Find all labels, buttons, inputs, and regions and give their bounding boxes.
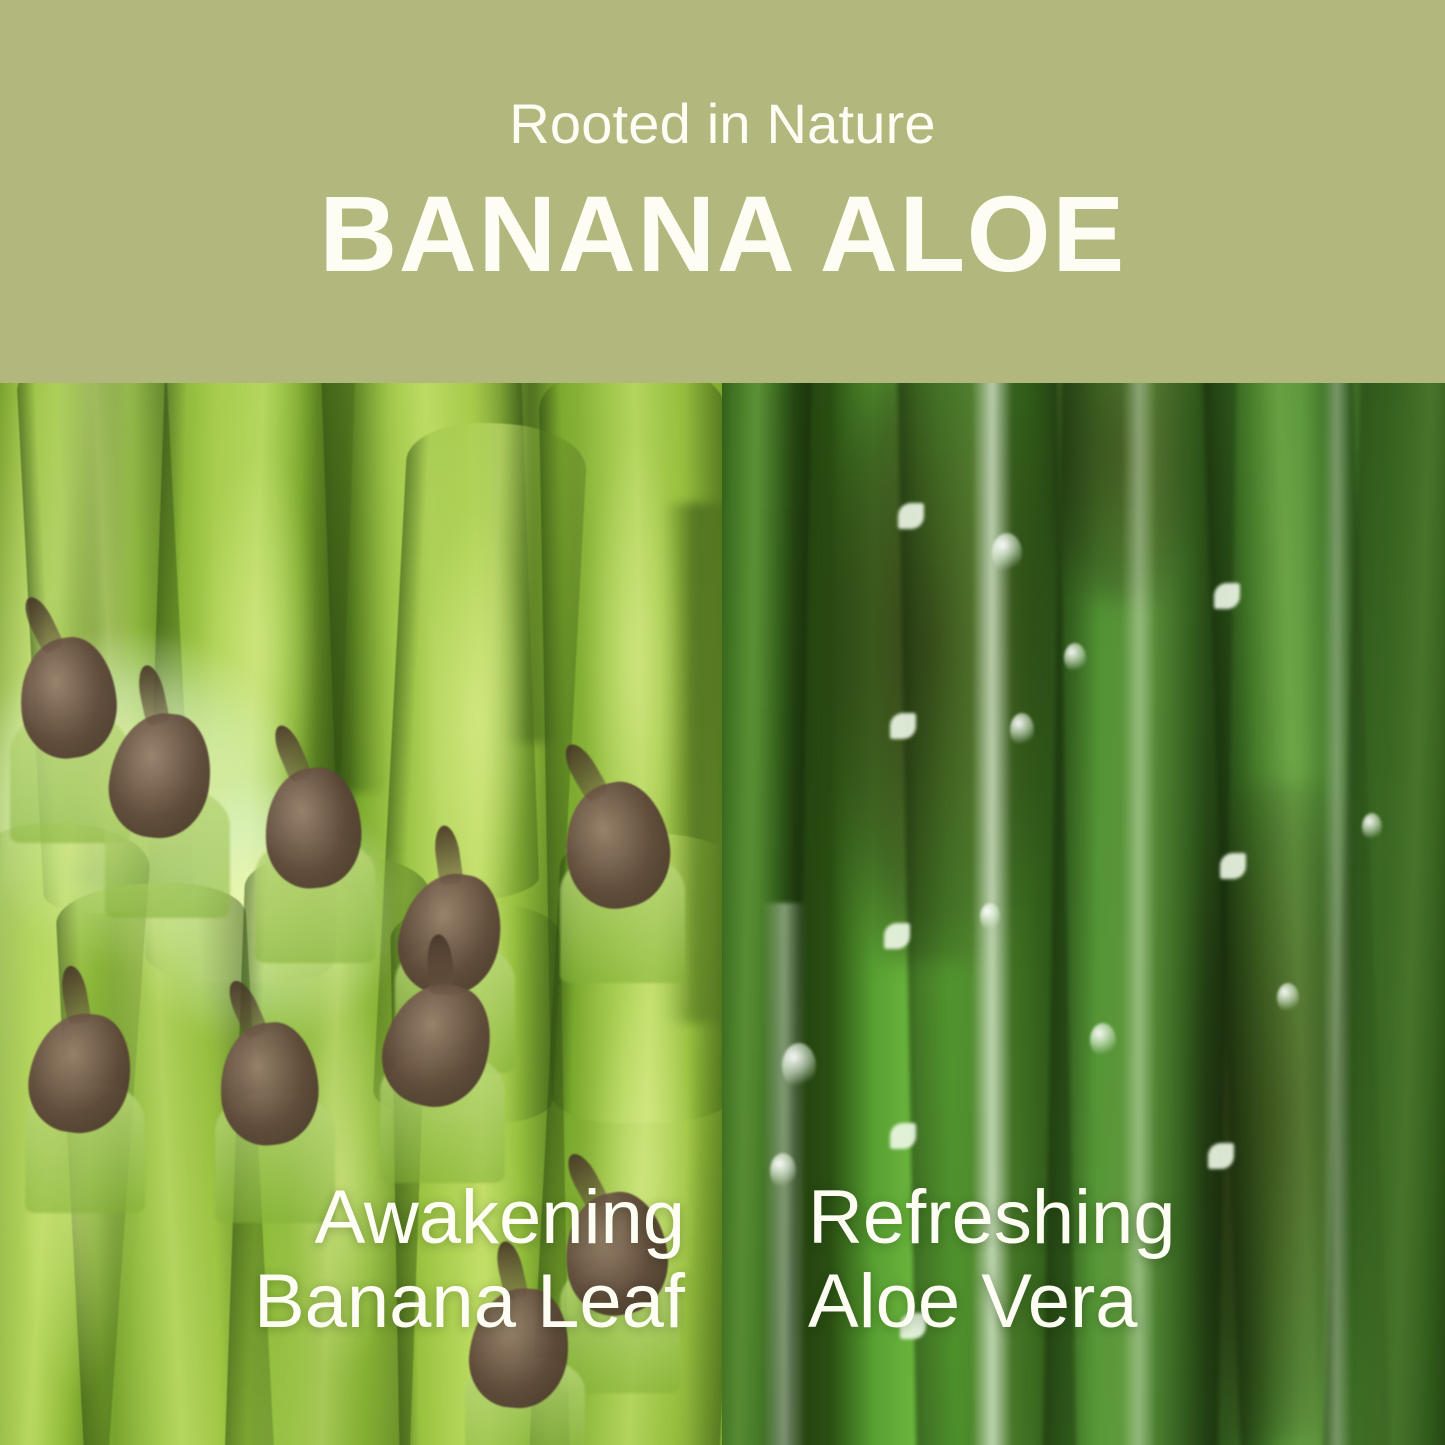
page-title: BANANA ALOE bbox=[319, 180, 1125, 288]
water-droplet bbox=[1362, 813, 1382, 841]
aloe-foreground-blur bbox=[1282, 383, 1445, 1445]
banana-highlight bbox=[420, 503, 530, 933]
photo-row bbox=[0, 383, 1445, 1445]
aloe-photo bbox=[722, 383, 1445, 1445]
water-droplet bbox=[980, 903, 1000, 931]
aloe-spine bbox=[1208, 1143, 1234, 1169]
banana-photo bbox=[0, 383, 722, 1445]
ingredient-poster: Rooted in Nature BANANA ALOE bbox=[0, 0, 1445, 1445]
aloe-spine bbox=[884, 923, 910, 949]
water-droplet bbox=[1277, 983, 1299, 1013]
water-droplet bbox=[1064, 643, 1086, 673]
water-droplet bbox=[770, 1153, 796, 1189]
aloe-leaf-sheen bbox=[1122, 383, 1156, 1445]
aloe-spine bbox=[890, 1123, 916, 1149]
aloe-spine bbox=[1220, 853, 1246, 879]
eyebrow-text: Rooted in Nature bbox=[509, 96, 936, 152]
water-droplet bbox=[1090, 1023, 1116, 1057]
water-droplet bbox=[782, 1043, 816, 1089]
water-droplet bbox=[992, 533, 1022, 573]
aloe-spine bbox=[1214, 583, 1240, 609]
aloe-leaf-sheen bbox=[1322, 383, 1352, 1445]
water-droplet bbox=[1010, 713, 1034, 747]
aloe-spine bbox=[900, 1313, 926, 1339]
aloe-spine bbox=[898, 503, 924, 529]
header-band: Rooted in Nature BANANA ALOE bbox=[0, 0, 1445, 383]
aloe-spine bbox=[890, 713, 916, 739]
